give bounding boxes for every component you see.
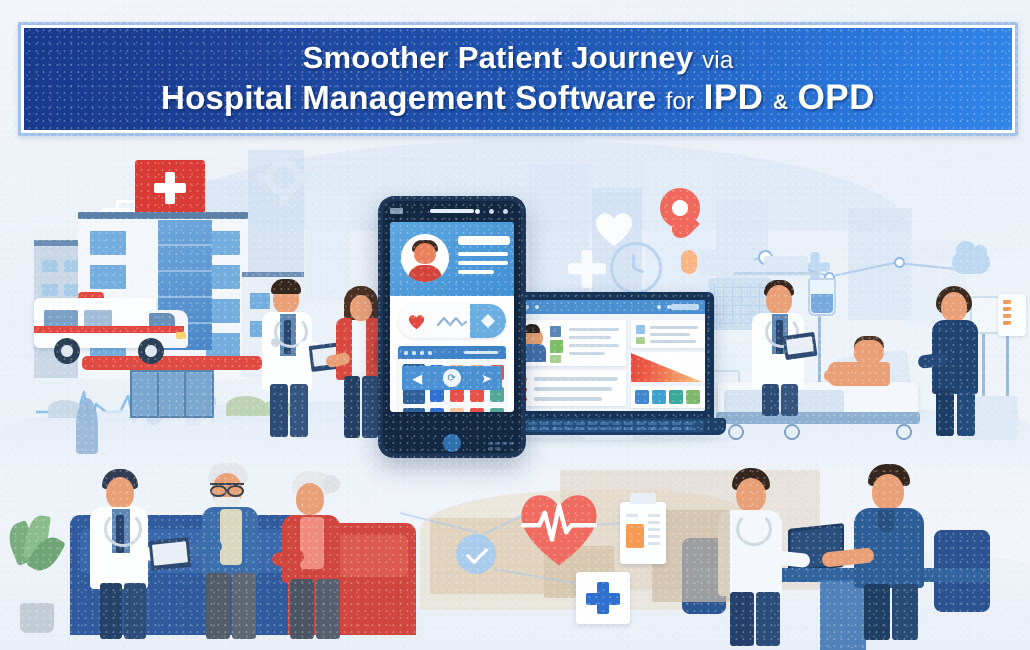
bed-frame (716, 412, 920, 424)
doctor-leg (124, 583, 146, 639)
title-banner: Smoother Patient Journey via Hospital Ma… (18, 22, 1018, 136)
stethoscope-icon (104, 511, 142, 547)
grid-tile[interactable] (490, 408, 504, 412)
camera-dot (475, 209, 480, 214)
grid-tile[interactable] (430, 408, 444, 412)
status-dot (489, 209, 494, 214)
avatar (401, 234, 449, 282)
doctor-leg (730, 592, 754, 646)
stethoscope-icon (736, 512, 772, 546)
bed-caster (784, 424, 800, 440)
inpatient-ward-scene (700, 250, 1030, 465)
revenue-area-chart (631, 352, 705, 382)
forward-arrow-icon[interactable]: ➤ (481, 372, 492, 385)
headline-light-2: for (666, 88, 695, 115)
infusion-pump (998, 294, 1026, 336)
clock-icon (610, 242, 662, 294)
doctor-patient-conversation (258, 272, 398, 437)
outpatient-consultation-desk (690, 460, 1030, 650)
woman-leg (290, 579, 314, 639)
doctor-leg (100, 583, 122, 639)
hospital-roof-sign (135, 160, 205, 218)
grid-tile[interactable] (450, 408, 464, 412)
phone-key-dots (488, 442, 514, 450)
signal-icon (390, 208, 403, 214)
patient-app-on-smartphone: ◀ ⟳ ➤ (378, 196, 526, 458)
phone-status-bar (390, 206, 514, 216)
laptop-lid (498, 292, 714, 420)
banner-canvas: ◀ ⟳ ➤ (0, 0, 1030, 650)
headline-opd: OPD (798, 78, 875, 117)
potted-plant (8, 513, 64, 633)
white-cross-icon (568, 250, 606, 288)
ambulance-body (34, 298, 156, 348)
refresh-circle-icon[interactable]: ⟳ (443, 369, 461, 387)
laptop-trackpad (583, 435, 633, 440)
elderly-man-figure (196, 463, 272, 639)
medical-icon-cluster (440, 462, 710, 632)
ambulance-wheel (54, 338, 80, 364)
phone-bottom-nav[interactable]: ◀ ⟳ ➤ (402, 366, 502, 390)
back-arrow-icon[interactable]: ◀ (412, 372, 422, 385)
patient-blue-polo (848, 464, 938, 640)
man-leg (206, 573, 230, 639)
doctor-leg (781, 384, 798, 416)
laptop-screen (507, 300, 705, 411)
polo-collar (878, 510, 894, 532)
headline-line-1: Smoother Patient Journey via (303, 41, 734, 76)
headline-main-2: Hospital Management Software (161, 79, 656, 116)
woman-face (350, 295, 372, 321)
doctor-head (766, 285, 792, 315)
woman-head (296, 483, 324, 515)
nurse-leg (957, 390, 975, 436)
profile-name-line (458, 236, 510, 245)
hospital-entrance-door (130, 370, 214, 418)
hospital-building (30, 160, 290, 410)
grid-tile[interactable] (470, 408, 484, 412)
phone-home-button[interactable] (443, 434, 461, 452)
doctor-leg (290, 384, 308, 437)
headline-ampersand: & (773, 91, 788, 114)
department-tiles (631, 386, 705, 408)
clipboard (782, 332, 817, 360)
red-cross-icon (154, 172, 186, 204)
woman-jacket (336, 318, 352, 380)
woman-leg (362, 376, 378, 438)
eyeglasses-icon (210, 483, 244, 493)
profile-detail-line (458, 261, 508, 265)
woman-blouse (300, 517, 324, 569)
grid-header-bar (398, 346, 506, 359)
ceiling-rail (734, 272, 820, 275)
laptop-keyboard (512, 420, 704, 432)
title-banner-inner: Smoother Patient Journey via Hospital Ma… (24, 28, 1012, 130)
patient-record-card (514, 320, 626, 366)
hair-bun (322, 475, 340, 493)
dashboard-title-bar (507, 300, 705, 314)
bed-caster (896, 424, 912, 440)
heart-pulse-icon (514, 486, 604, 568)
doctor-head (106, 477, 134, 509)
ambulance-wheel (138, 338, 164, 364)
doctor-hair (271, 279, 301, 294)
first-aid-cross-box-icon (576, 572, 630, 624)
vitals-chart-widget[interactable] (434, 304, 470, 338)
headline-light-1: via (702, 47, 733, 74)
location-pin-red-icon (660, 188, 700, 242)
doctor-leg (762, 384, 779, 416)
tree (76, 398, 98, 454)
nurse-head (941, 292, 967, 322)
check-circle-icon (456, 534, 496, 574)
elderly-couple-consultation (70, 455, 410, 650)
patient-in-bed (828, 336, 914, 394)
headline-main-1: Smoother Patient Journey (303, 40, 694, 75)
doctor-head (736, 478, 766, 512)
patient-head (854, 340, 884, 364)
doctor-leg (270, 384, 288, 437)
health-widgets-row[interactable] (398, 304, 506, 338)
elderly-woman-figure (278, 471, 356, 639)
phone-speaker (430, 209, 474, 213)
heart-rate-widget[interactable] (398, 304, 434, 338)
ambulance-headlight (176, 332, 186, 339)
grid-tile[interactable] (403, 408, 425, 412)
reports-card (631, 320, 705, 348)
medicine-bottle-icon (620, 502, 666, 564)
man-shirt (220, 509, 242, 565)
woman-leg (344, 376, 360, 438)
headline-line-2: Hospital Management Software for IPD & O… (161, 78, 875, 117)
ambulance-red-stripe (34, 326, 184, 333)
stethoscope-bell (271, 338, 280, 347)
ambulance (34, 292, 194, 370)
woman-leg (316, 579, 340, 639)
man-leg (232, 573, 256, 639)
status-dot (503, 209, 508, 214)
patient-profile-header (390, 222, 514, 296)
nurse-leg (936, 390, 954, 436)
patient-head (872, 474, 904, 510)
phone-screen: ◀ ⟳ ➤ (390, 222, 514, 412)
medication-widget[interactable] (470, 304, 506, 338)
patient-leg (864, 584, 890, 640)
notes-list-card (514, 370, 626, 406)
profile-detail-line (458, 270, 494, 274)
nurse-navy-scrubs (926, 284, 988, 436)
clipboard (149, 537, 192, 571)
doctor-leg (756, 592, 780, 646)
patient-leg (892, 584, 918, 640)
headline-ipd: IPD (704, 78, 764, 117)
profile-detail-line (458, 252, 508, 256)
